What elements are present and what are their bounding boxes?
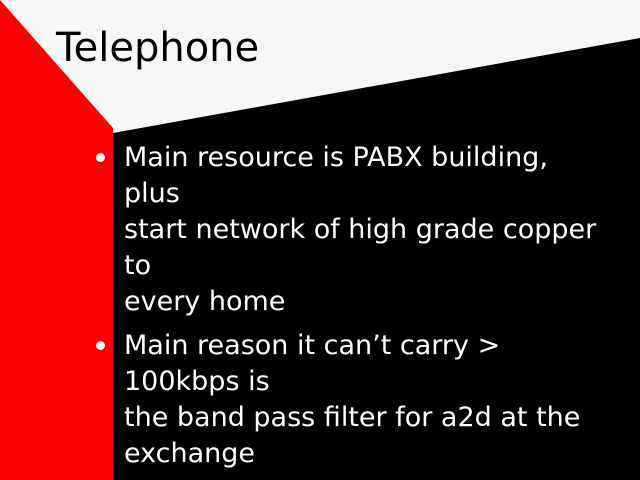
presentation-slide: Telephone Main resource is PABX building… [0,0,640,480]
bullet-dot-icon [96,153,105,162]
list-item: Main reason it can’t carry > 100kbps is … [92,328,612,472]
list-item: Main resource is PABX building, plus sta… [92,140,612,320]
bullet-dot-icon [96,341,105,350]
slide-title: Telephone [56,23,259,73]
bullet-text: Main reason it can’t carry > 100kbps is … [124,328,612,472]
slide-body-bullet-list: Main resource is PABX building, plus sta… [92,140,612,480]
bullet-text: Main resource is PABX building, plus sta… [124,140,612,320]
